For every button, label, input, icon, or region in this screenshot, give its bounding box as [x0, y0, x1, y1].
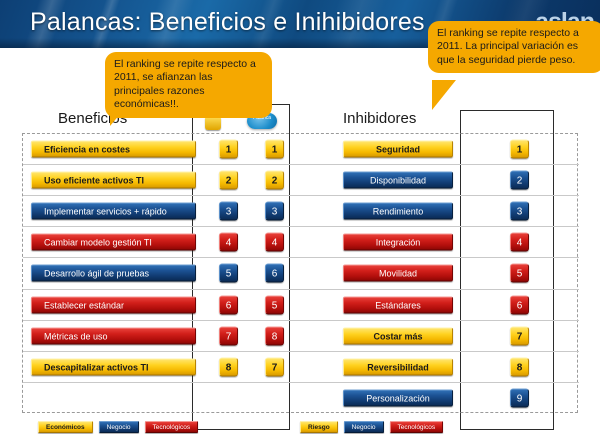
- inhibitor-rank: 8: [510, 357, 529, 376]
- table-row: Personalización9: [23, 383, 579, 414]
- benefit-pill: Cambiar modelo gestión TI: [31, 234, 196, 251]
- table-row: Desarrollo ágil de pruebas56Movilidad5: [23, 258, 579, 289]
- inhibitor-pill: Disponibilidad: [343, 172, 453, 189]
- benefit-pill: Eficiencia en costes: [31, 141, 196, 158]
- year-badge-icon: [205, 116, 221, 130]
- slide-canvas: Palancas: Beneficios e Inihibidores asla…: [0, 0, 600, 434]
- table-row: Establecer estándar65Estándares6: [23, 290, 579, 321]
- benefit-pill: Descapitalizar activos TI: [31, 358, 196, 375]
- inhibitor-rank: 9: [510, 389, 529, 408]
- comparison-table: Eficiencia en costes11Seguridad1Uso efic…: [22, 133, 578, 413]
- inhibitor-pill: Integración: [343, 234, 453, 251]
- benefit-rank-a: 7: [219, 326, 238, 345]
- legend-inhibitor-item: Tecnológicos: [390, 421, 444, 433]
- callout-inhibitors: El ranking se repite respecto a 2011. La…: [428, 21, 600, 73]
- benefit-pill: Métricas de uso: [31, 327, 196, 344]
- benefit-rank-b: 6: [265, 264, 284, 283]
- inhibitor-rank: 1: [510, 140, 529, 159]
- inhibitor-rank: 2: [510, 171, 529, 190]
- inhibitor-rank: 5: [510, 264, 529, 283]
- inhibitor-pill: Rendimiento: [343, 203, 453, 220]
- inhibitor-pill: Costar más: [343, 327, 453, 344]
- legend-benefit-item: Negocio: [99, 421, 139, 433]
- legend-benefits: EconómicosNegocioTecnológicos: [38, 421, 198, 433]
- callout-inhibitors-tail: [432, 80, 456, 110]
- benefit-pill: Uso eficiente activos TI: [31, 172, 196, 189]
- benefit-rank-b: 3: [265, 202, 284, 221]
- benefit-rank-a: 4: [219, 233, 238, 252]
- legend-benefit-item: Tecnológicos: [145, 421, 199, 433]
- callout-benefits: El ranking se repite respecto a 2011, se…: [105, 52, 272, 118]
- benefit-rank-a: 8: [219, 357, 238, 376]
- legend-inhibitors: RiesgoNegocioTecnológicos: [300, 421, 443, 433]
- table-row: Métricas de uso78Costar más7: [23, 321, 579, 352]
- benefit-pill: Implementar servicios + rápido: [31, 203, 196, 220]
- benefit-rank-b: 5: [265, 295, 284, 314]
- benefit-rank-a: 3: [219, 202, 238, 221]
- inhibitor-rank: 6: [510, 295, 529, 314]
- legend-benefit-item: Económicos: [38, 421, 93, 433]
- inhibitor-rank: 3: [510, 202, 529, 221]
- inhibitors-caption: Inhibidores: [343, 110, 416, 127]
- benefit-rank-b: 8: [265, 326, 284, 345]
- benefit-rank-b: 7: [265, 357, 284, 376]
- benefit-rank-b: 2: [265, 171, 284, 190]
- benefit-pill: Desarrollo ágil de pruebas: [31, 265, 196, 282]
- inhibitor-pill: Reversibilidad: [343, 358, 453, 375]
- table-row: Eficiencia en costes11Seguridad1: [23, 134, 579, 165]
- inhibitor-rank: 7: [510, 326, 529, 345]
- benefit-rank-b: 1: [265, 140, 284, 159]
- inhibitor-pill: Seguridad: [343, 141, 453, 158]
- legend-inhibitor-item: Riesgo: [300, 421, 338, 433]
- table-row: Descapitalizar activos TI87Reversibilida…: [23, 352, 579, 383]
- table-row: Implementar servicios + rápido33Rendimie…: [23, 196, 579, 227]
- benefit-rank-a: 2: [219, 171, 238, 190]
- benefit-rank-a: 5: [219, 264, 238, 283]
- page-title: Palancas: Beneficios e Inihibidores: [30, 8, 425, 37]
- benefit-rank-a: 6: [219, 295, 238, 314]
- table-row: Uso eficiente activos TI22Disponibilidad…: [23, 165, 579, 196]
- inhibitor-pill: Personalización: [343, 390, 453, 407]
- inhibitor-pill: Estándares: [343, 296, 453, 313]
- benefit-pill: Establecer estándar: [31, 296, 196, 313]
- legend-inhibitor-item: Negocio: [344, 421, 384, 433]
- table-row: Cambiar modelo gestión TI44Integración4: [23, 227, 579, 258]
- inhibitor-pill: Movilidad: [343, 265, 453, 282]
- inhibitor-rank: 4: [510, 233, 529, 252]
- benefit-rank-b: 4: [265, 233, 284, 252]
- benefit-rank-a: 1: [219, 140, 238, 159]
